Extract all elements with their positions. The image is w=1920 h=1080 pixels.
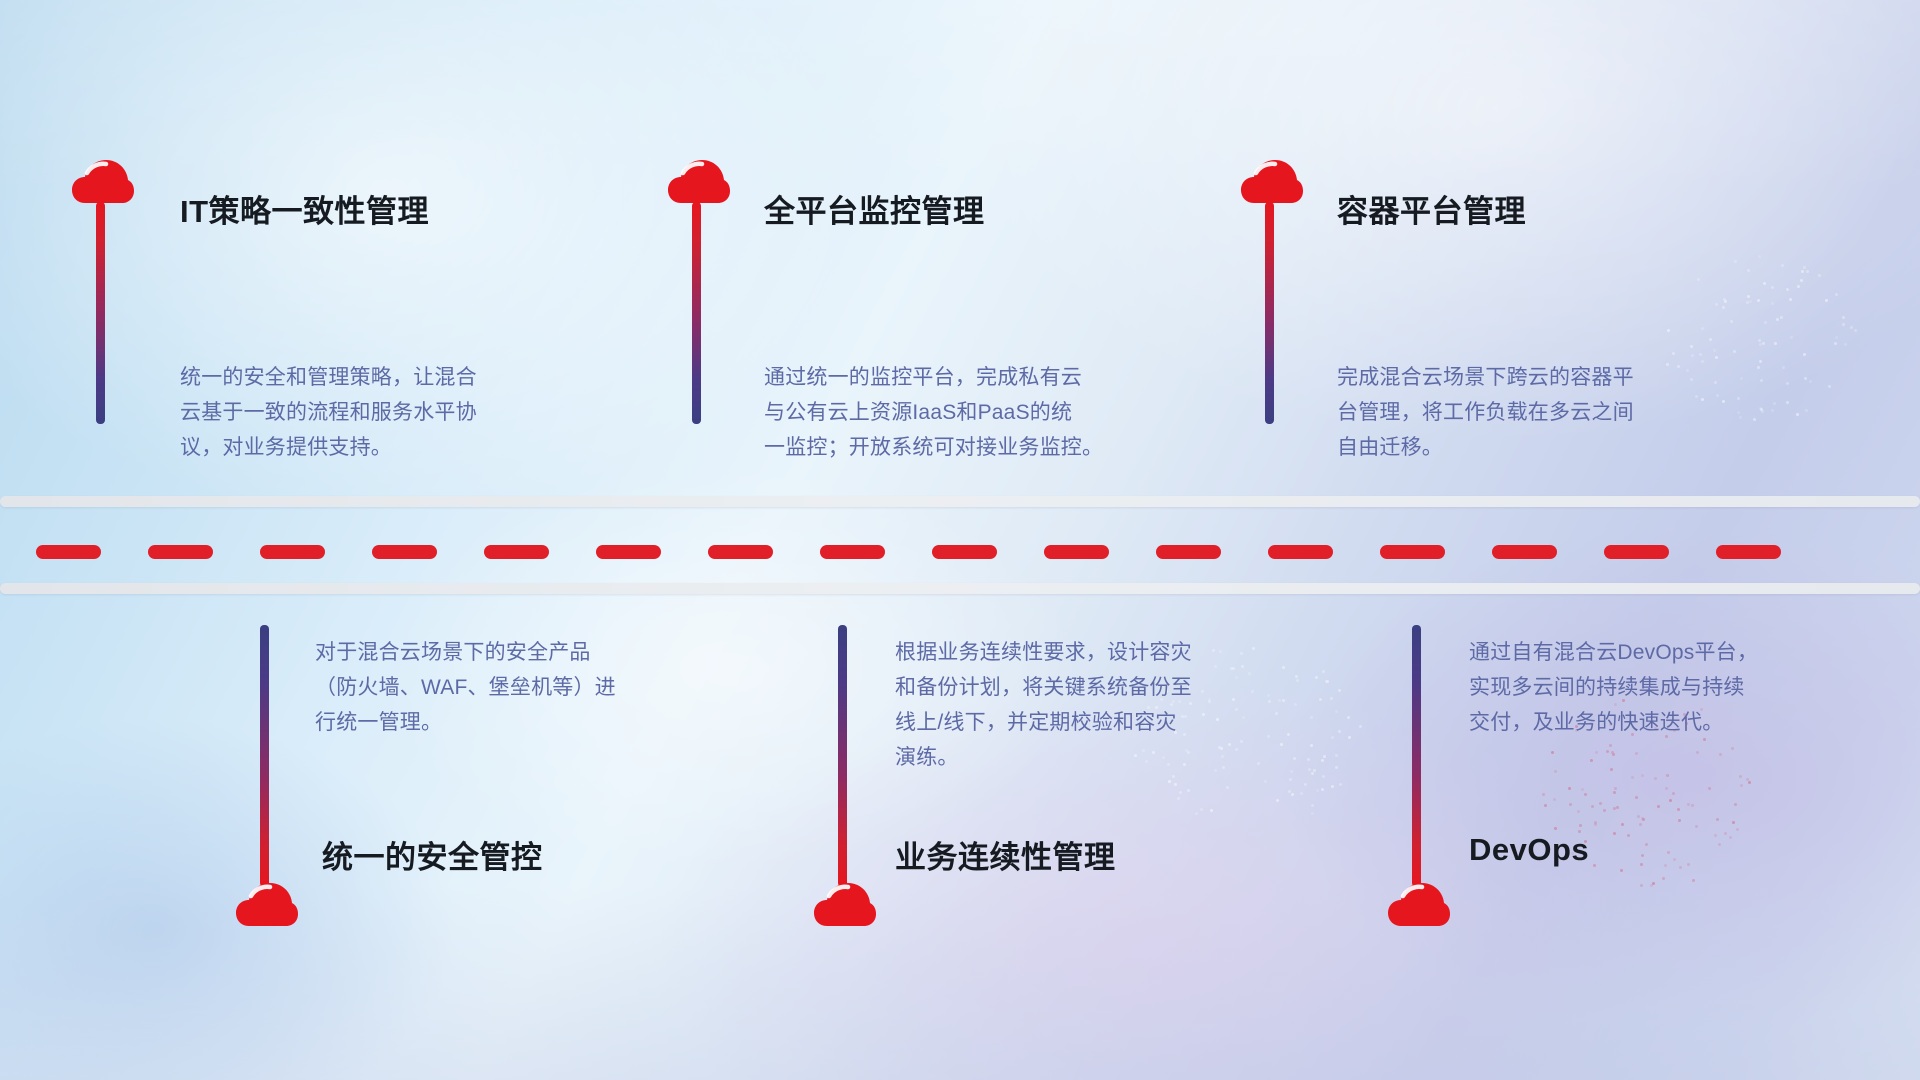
road-dash [820,545,885,559]
road-dash [1380,545,1445,559]
milestone-stem [260,625,269,887]
milestone-body: 统一的安全和管理策略，让混合 云基于一致的流程和服务水平协 议，对业务提供支持。 [180,360,610,465]
milestone-stem [1412,625,1421,887]
road-dash [1268,545,1333,559]
milestone-stem [1265,202,1274,424]
milestone-stem [96,202,105,424]
road-dash [1604,545,1669,559]
road-dash [596,545,661,559]
road-dash [708,545,773,559]
road-dash [1492,545,1557,559]
road-edge-line-bottom [0,583,1920,594]
milestone-title: DevOps [1469,832,1589,868]
cloud-icon [1388,883,1450,932]
road-edge-line-top [0,496,1920,507]
cloud-icon [236,883,298,932]
milestone-body: 对于混合云场景下的安全产品 （防火墙、WAF、堡垒机等）进 行统一管理。 [315,635,745,740]
milestone-title: IT策略一致性管理 [180,186,429,231]
road-dash [1716,545,1781,559]
road-dash [1156,545,1221,559]
milestone-title: 全平台监控管理 [764,186,985,231]
milestone-body: 完成混合云场景下跨云的容器平 台管理，将工作负载在多云之间 自由迁移。 [1337,360,1767,465]
cloud-icon [814,883,876,932]
milestone-title: 业务连续性管理 [895,832,1116,877]
road-dash [372,545,437,559]
milestone-stem [838,625,847,887]
road-dash [484,545,549,559]
milestone-body: 通过自有混合云DevOps平台， 实现多云间的持续集成与持续 交付，及业务的快速… [1469,635,1869,740]
road-dash [148,545,213,559]
road-dash [1044,545,1109,559]
milestone-title: 统一的安全管控 [322,832,543,877]
milestone-title: 容器平台管理 [1337,186,1526,231]
milestone-body: 根据业务连续性要求，设计容灾 和备份计划，将关键系统备份至 线上/线下，并定期校… [895,635,1325,775]
road-center-dashes [0,545,1920,559]
milestone-stem [692,202,701,424]
road-dash [260,545,325,559]
milestone-body: 通过统一的监控平台，完成私有云 与公有云上资源IaaS和PaaS的统 一监控；开… [764,360,1224,465]
road-dash [36,545,101,559]
road-dash [932,545,997,559]
